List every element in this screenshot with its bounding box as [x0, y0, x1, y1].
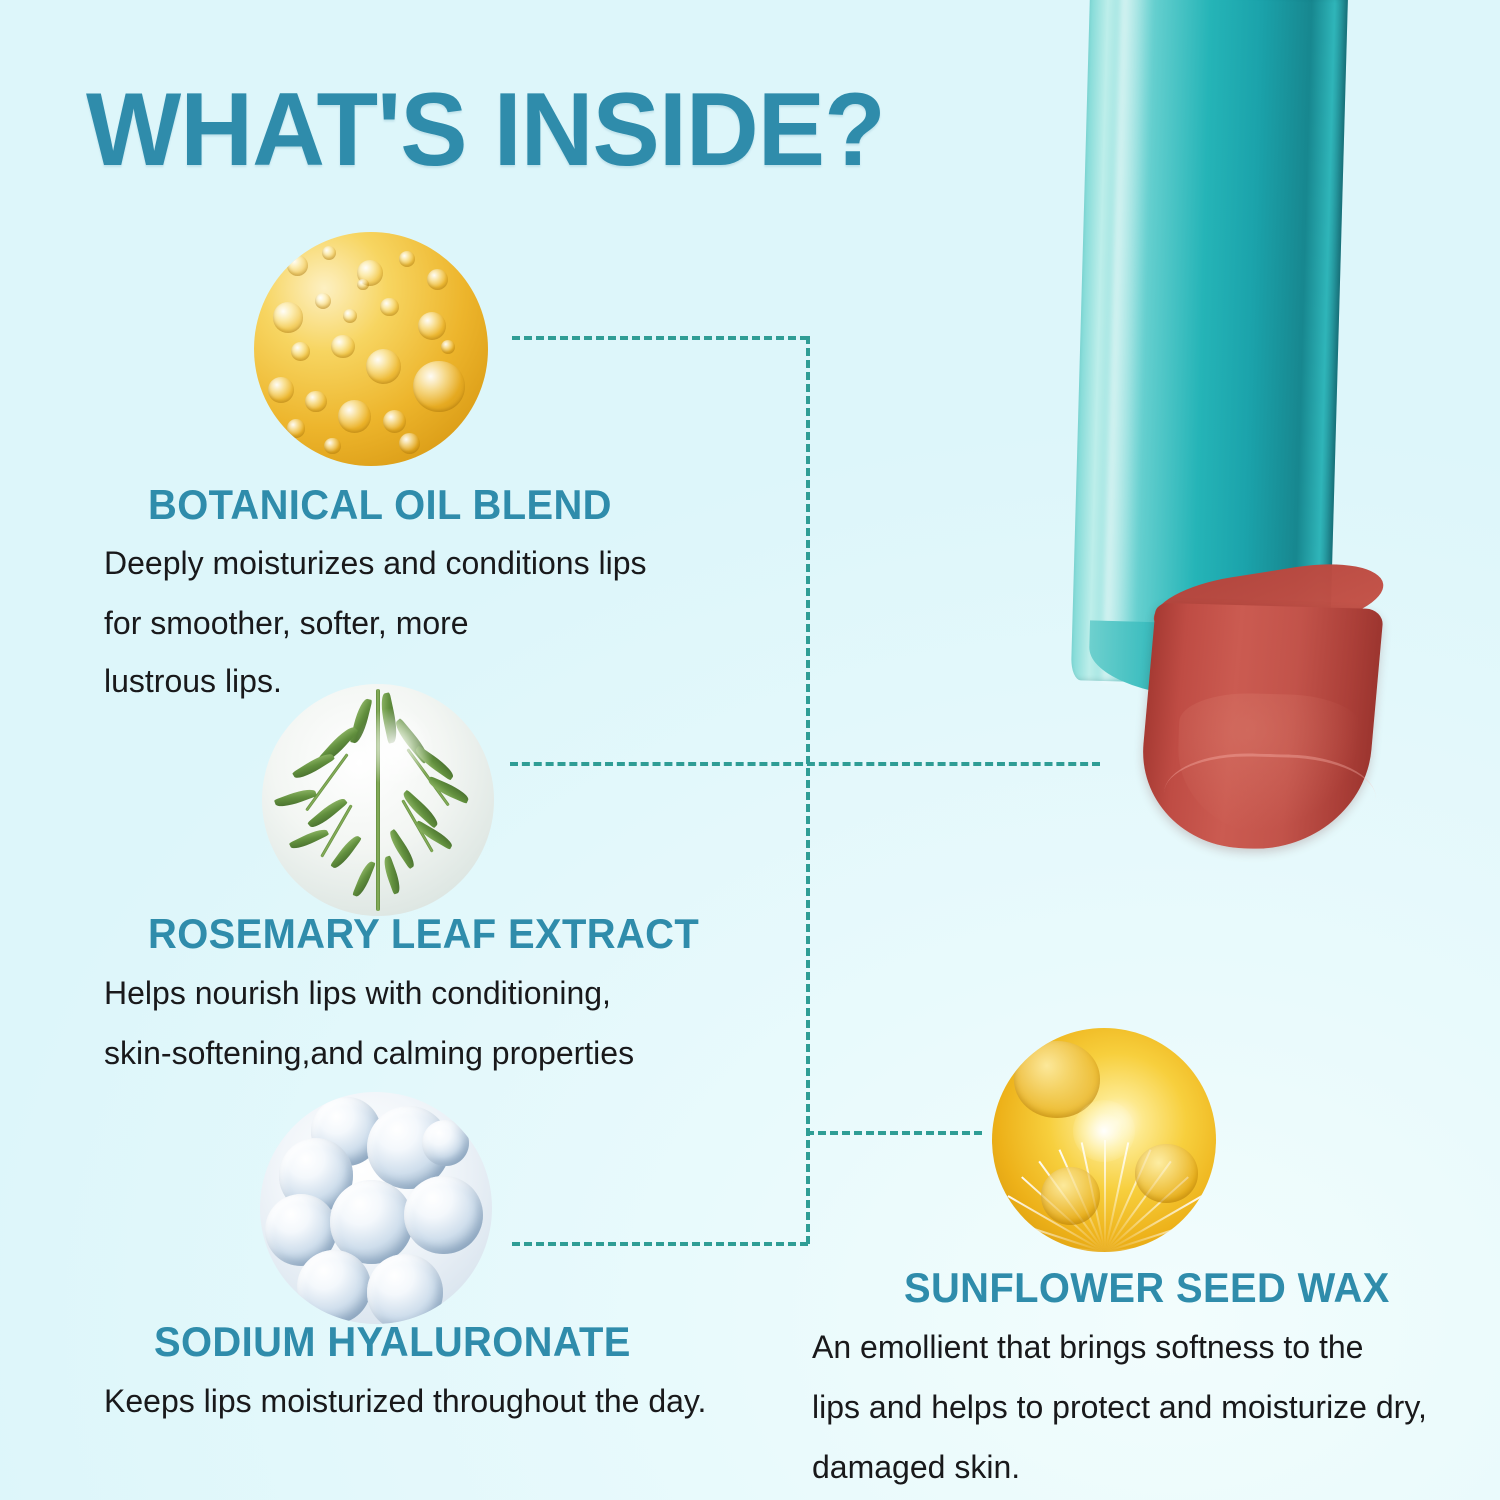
- rosemary-leaf-extract-image: [262, 684, 494, 916]
- connector-sunflower: [806, 1131, 982, 1135]
- rosemary-leaf-extract-title: ROSEMARY LEAF EXTRACT: [148, 910, 699, 958]
- connector-oil: [512, 336, 808, 340]
- sodium-hyaluronate-title: SODIUM HYALURONATE: [154, 1318, 631, 1366]
- botanical-oil-blend-image: [254, 232, 488, 466]
- lipstick-product-image: [1060, 0, 1380, 854]
- connector-rosemary-product: [510, 762, 1100, 766]
- tube-highlight: [1102, 0, 1152, 682]
- botanical-oil-blend-line-3: lustrous lips.: [104, 652, 282, 711]
- sunflower-seed-wax-title: SUNFLOWER SEED WAX: [904, 1264, 1390, 1312]
- connector-hyaluronate: [512, 1242, 808, 1246]
- infographic-canvas: WHAT'S INSIDE?: [0, 0, 1500, 1500]
- sunflower-seed-wax-line-1: An emollient that brings softness to the: [812, 1318, 1363, 1377]
- rosemary-leaf-extract-line-1: Helps nourish lips with conditioning,: [104, 964, 611, 1023]
- sunflower-seed-wax-line-2: lips and helps to protect and moisturize…: [812, 1378, 1427, 1437]
- connector-spine: [806, 336, 810, 1244]
- wax-starburst-core: [1073, 1100, 1135, 1162]
- page-title: WHAT'S INSIDE?: [86, 78, 885, 182]
- botanical-oil-blend-line-2: for smoother, softer, more: [104, 594, 469, 653]
- sunflower-seed-wax-image: [992, 1028, 1216, 1252]
- botanical-oil-blend-title: BOTANICAL OIL BLEND: [148, 481, 612, 529]
- sodium-hyaluronate-line-1: Keeps lips moisturized throughout the da…: [104, 1372, 706, 1431]
- botanical-oil-blend-line-1: Deeply moisturizes and conditions lips: [104, 534, 646, 593]
- rosemary-leaf-extract-line-2: skin-softening,and calming properties: [104, 1024, 634, 1083]
- sodium-hyaluronate-image: [260, 1092, 492, 1324]
- sunflower-seed-wax-line-3: damaged skin.: [812, 1438, 1020, 1497]
